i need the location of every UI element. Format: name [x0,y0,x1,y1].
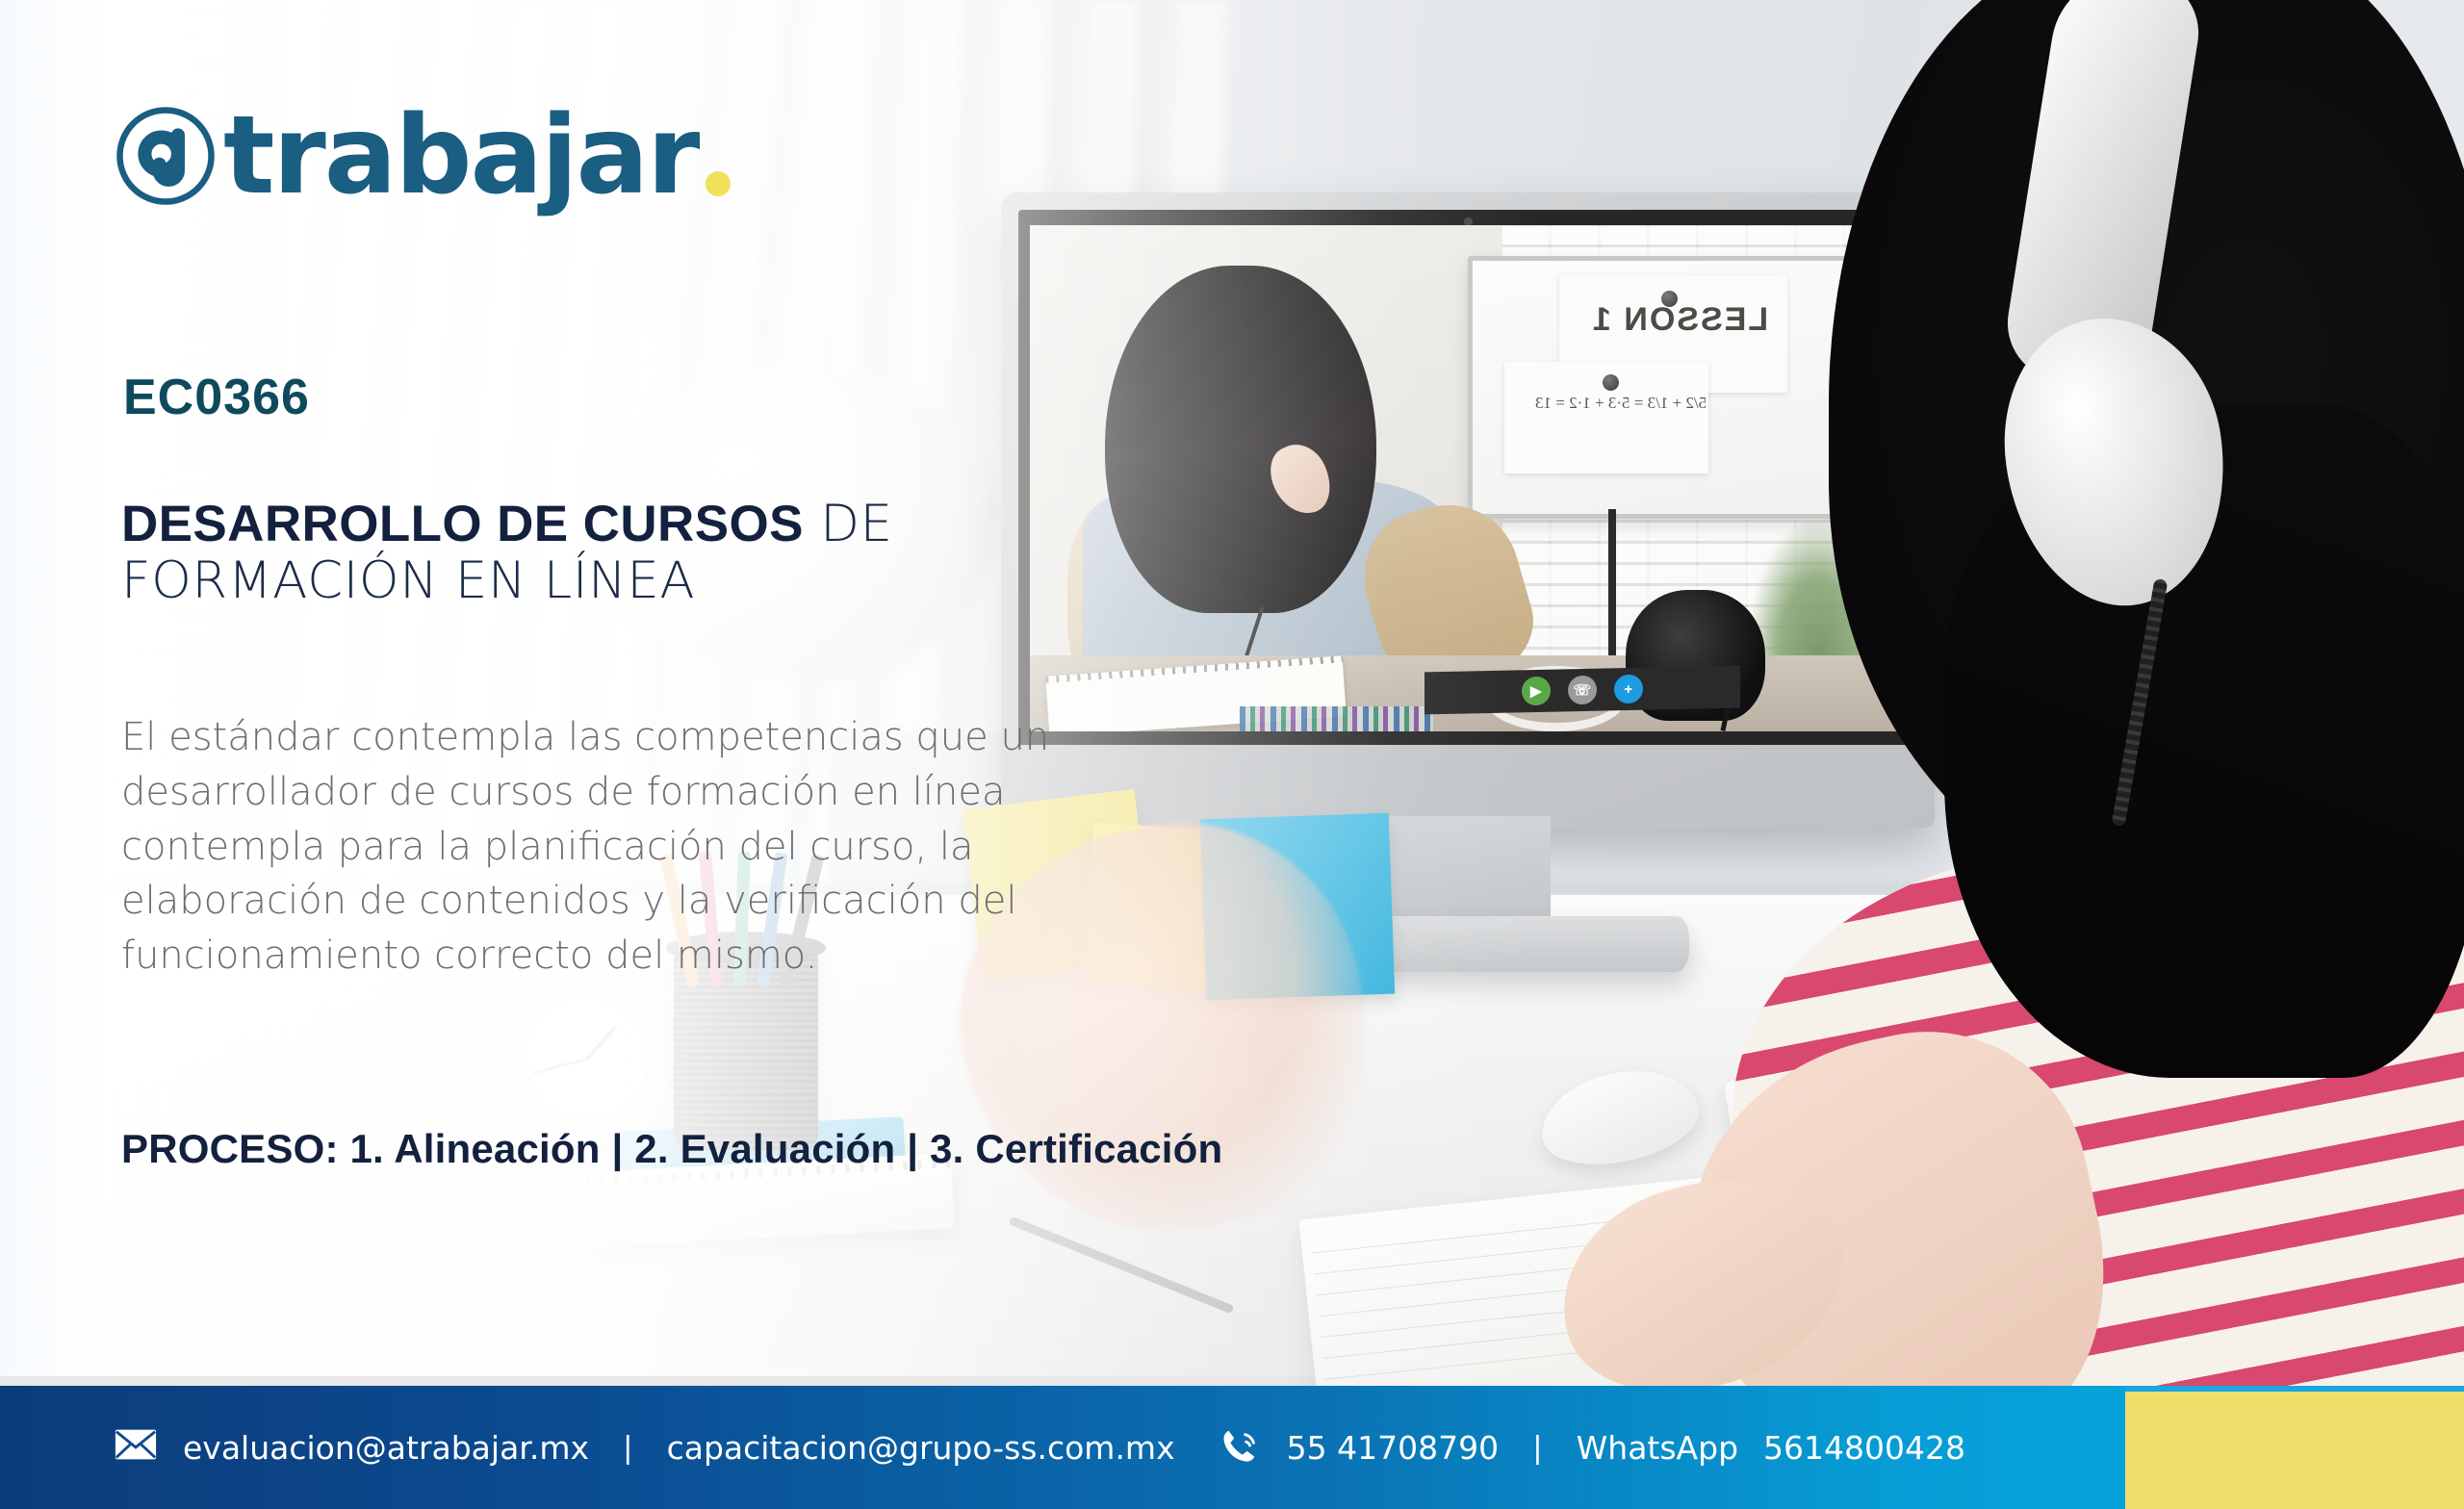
plus-circle-icon[interactable]: + [1613,675,1642,704]
whatsapp-label: WhatsApp [1577,1429,1738,1467]
standard-code: EC0366 [123,369,310,426]
brand-dot-icon [706,171,731,196]
footer-contact-bar: evaluacion@atrabajar.mx | capacitacion@g… [0,1386,2125,1509]
footer-accent-block [2125,1386,2464,1509]
promotional-poster: LESSON 1 5/2 + 1/3 = 5·3 + 1·2 = 13 [0,0,2464,1509]
email-separator: | [624,1429,632,1466]
page-title: DESARROLLO DE CURSOS DE FORMACIÓN EN LÍN… [121,496,1276,610]
email-secondary[interactable]: capacitacion@grupo-ss.com.mx [667,1429,1175,1467]
title-primary: DESARROLLO DE CURSOS [121,496,804,552]
phone-separator: | [1533,1429,1542,1466]
description-paragraph: El estándar contempla las competencias q… [121,710,1142,984]
phone-hangup-icon[interactable]: ☏ [1567,676,1596,705]
phone-icon [1218,1425,1262,1470]
contact-footer: evaluacion@atrabajar.mx | capacitacion@g… [0,1386,2464,1509]
process-line: PROCESO: 1. Alineación | 2. Evaluación |… [121,1126,1222,1172]
student-foreground [1732,0,2464,1509]
brand-name: trabajar [223,102,698,210]
envelope-icon [114,1425,158,1470]
phone-contact-group[interactable]: 55 41708790 | WhatsApp 5614800428 [1218,1425,1965,1470]
title-secondary: DE [804,495,893,553]
title-line-two: FORMACIÓN EN LÍNEA [121,551,695,610]
phone-number[interactable]: 55 41708790 [1287,1429,1499,1467]
brand-logo: trabajar [114,102,731,210]
at-circle-icon [114,104,218,208]
whatsapp-number[interactable]: 5614800428 [1763,1429,1965,1467]
email-contact-group[interactable]: evaluacion@atrabajar.mx | capacitacion@g… [114,1425,1175,1470]
whiteboard-equation: 5/2 + 1/3 = 5·3 + 1·2 = 13 [1535,393,1707,413]
text-content: trabajar EC0366 DESARROLLO DE CURSOS DE … [0,0,1540,1376]
email-primary[interactable]: evaluacion@atrabajar.mx [183,1429,589,1467]
magnet-icon [1603,374,1619,391]
